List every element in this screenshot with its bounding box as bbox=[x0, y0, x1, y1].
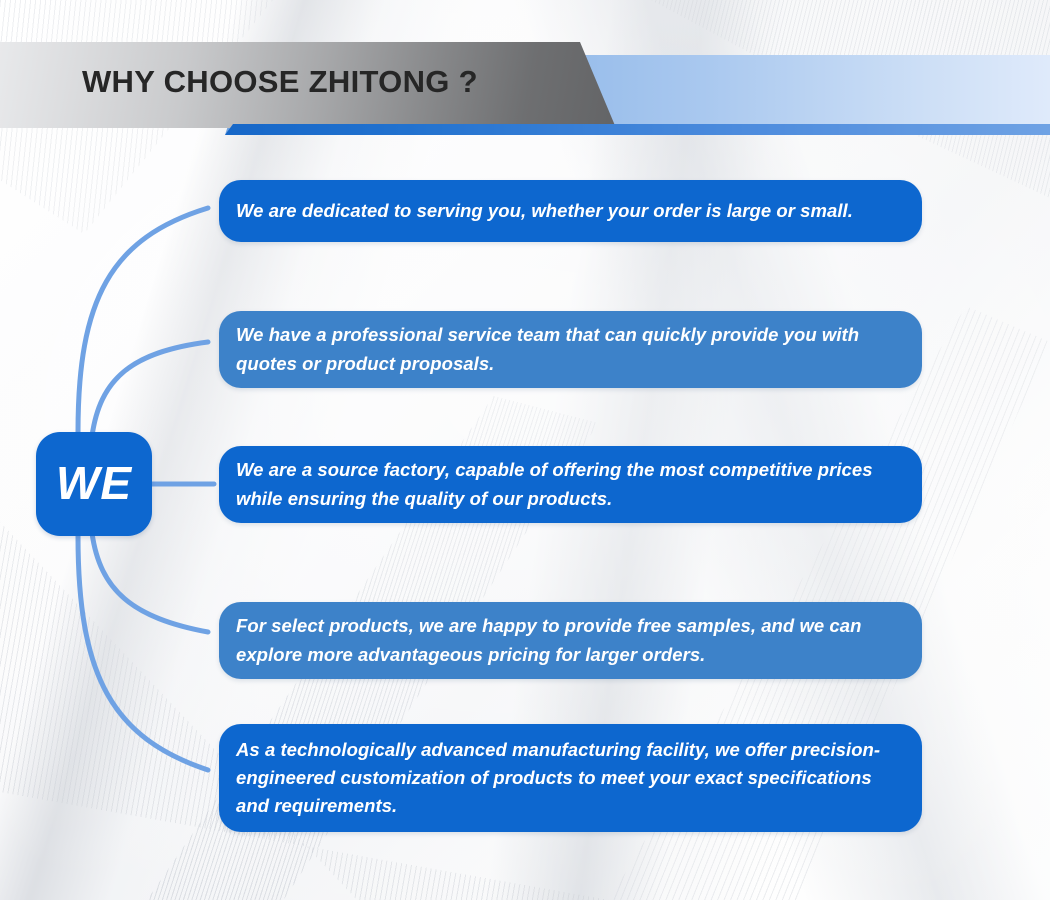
statement-card-4[interactable]: For select products, we are happy to pro… bbox=[219, 602, 922, 679]
statement-text-5: As a technologically advanced manufactur… bbox=[219, 736, 922, 820]
connector-line-1 bbox=[78, 208, 208, 432]
statement-text-1: We are dedicated to serving you, whether… bbox=[219, 197, 870, 225]
hub-label: WE bbox=[56, 460, 132, 506]
statement-card-1[interactable]: We are dedicated to serving you, whether… bbox=[219, 180, 922, 242]
infographic-canvas: WHY CHOOSE ZHITONG ? WE We are dedicated… bbox=[0, 0, 1050, 900]
statement-text-2: We have a professional service team that… bbox=[219, 321, 922, 377]
statement-text-3: We are a source factory, capable of offe… bbox=[219, 456, 922, 512]
statement-text-4: For select products, we are happy to pro… bbox=[219, 612, 922, 668]
connector-line-2 bbox=[92, 342, 208, 436]
connector-line-4 bbox=[92, 533, 208, 632]
statement-card-2[interactable]: We have a professional service team that… bbox=[219, 311, 922, 388]
statement-card-3[interactable]: We are a source factory, capable of offe… bbox=[219, 446, 922, 523]
hub-node-we[interactable]: WE bbox=[36, 432, 152, 536]
statement-card-5[interactable]: As a technologically advanced manufactur… bbox=[219, 724, 922, 832]
connector-line-5 bbox=[78, 536, 208, 770]
